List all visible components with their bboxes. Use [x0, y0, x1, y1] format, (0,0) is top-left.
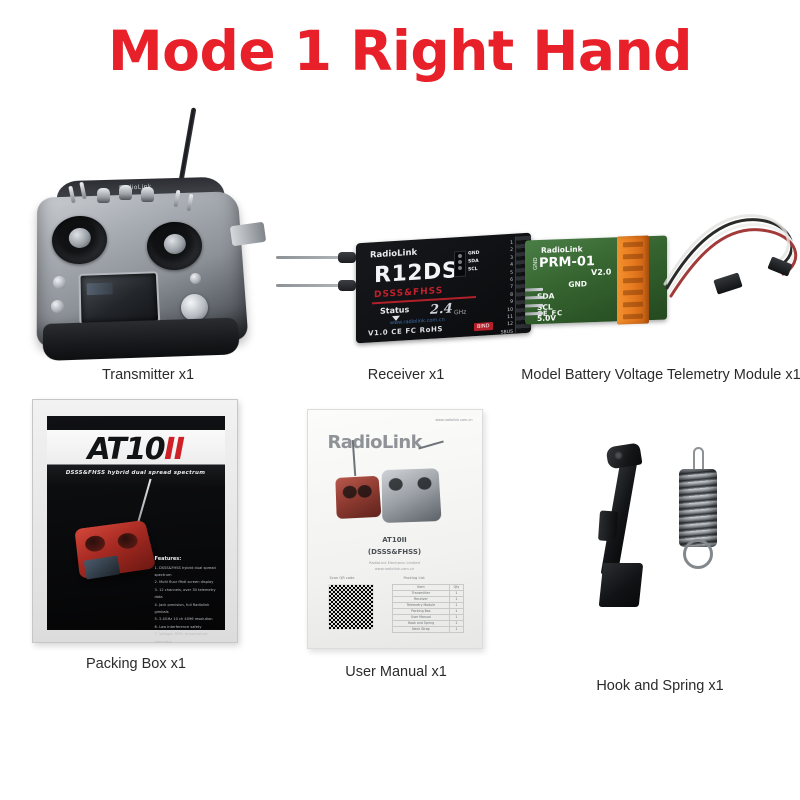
transmitter-button — [51, 300, 64, 313]
transmitter-base — [43, 317, 241, 360]
packing-list-body: ItemQtyTransmitter1Receiver1Telemetry Mo… — [392, 584, 463, 632]
caption-receiver: Receiver x1 — [368, 368, 445, 383]
transmitter-button — [53, 276, 66, 289]
transmitter-button — [190, 273, 201, 284]
receiver-cert-marks: CE FC RoHS — [391, 325, 443, 336]
telemetry-brand-label: RadioLink — [541, 244, 583, 254]
transmitter-knob — [141, 187, 154, 202]
packing-box-carton: AT10II DSSS&FHSS hybrid dual spread spec… — [32, 399, 238, 643]
receiver-antenna — [276, 256, 340, 259]
receiver-photo: RadioLink R12DS DSSS&FHSS Status 2.4 GHz… — [276, 232, 536, 362]
item-hook-and-spring: Hook and Spring x1 — [520, 397, 800, 694]
receiver-frequency-label: 2.4 — [430, 301, 453, 317]
table-row: Neck Strap1 — [392, 626, 463, 632]
hook-barb — [597, 510, 617, 541]
telemetry-male-pins — [525, 288, 543, 319]
contents-row-top: RadioLink Transmitter x1 — [0, 96, 800, 383]
user-manual-qr-label: Scan QR code — [330, 576, 355, 580]
hook-and-spring-photo — [553, 425, 768, 673]
receiver-board: RadioLink R12DS DSSS&FHSS Status 2.4 GHz… — [356, 233, 531, 344]
packing-box-features-list: 1. DSSS&FHSS hybrid dual spread spectrum… — [155, 565, 221, 646]
packing-box-logo-main: AT10 — [88, 432, 165, 467]
user-manual-url: www.radiolink.com.cn — [435, 418, 472, 423]
page-title: Mode 1 Right Hand — [108, 19, 692, 83]
caption-user-manual: User Manual x1 — [345, 665, 447, 680]
manual-art-transmitter-red — [335, 475, 381, 518]
receiver-antenna — [276, 284, 340, 287]
packing-box-logo-suffix: II — [164, 432, 183, 467]
user-manual-packing-list-table: ItemQtyTransmitter1Receiver1Telemetry Mo… — [392, 584, 464, 633]
spring-top-hook — [693, 447, 704, 471]
item-telemetry-module: RadioLink PRM-01 V2.0 GND SDA SCL 5.0V 6… — [522, 96, 800, 383]
receiver-certs-label: V1.0 CE FC RoHS — [368, 325, 443, 338]
item-receiver: RadioLink R12DS DSSS&FHSS Status 2.4 GHz… — [290, 96, 522, 383]
qr-code-icon — [328, 584, 374, 630]
packing-box-features-title: Features: — [155, 556, 182, 562]
caption-transmitter: Transmitter x1 — [102, 368, 194, 383]
contents-row-bottom: AT10II DSSS&FHSS hybrid dual spread spec… — [0, 397, 800, 694]
spring-ring — [683, 539, 713, 569]
table-cell: Neck Strap — [392, 626, 450, 632]
transmitter-side-handle — [230, 222, 266, 247]
hook-part — [597, 445, 653, 615]
manual-art-transmitter-gray — [381, 468, 441, 523]
receiver-interface-header — [454, 251, 466, 278]
caption-packing-box: Packing Box x1 — [86, 657, 186, 672]
receiver-brand-label: RadioLink — [370, 248, 417, 261]
receiver-interface-pin-labels: GND SDA SCL — [468, 250, 479, 275]
caption-telemetry-module: Model Battery Voltage Telemetry Module x… — [521, 368, 800, 383]
caption-hook-and-spring: Hook and Spring x1 — [596, 679, 723, 694]
transmitter-photo: RadioLink — [23, 96, 273, 368]
package-contents-grid: RadioLink Transmitter x1 — [0, 96, 800, 693]
spring-part — [679, 469, 717, 579]
receiver-status-label: Status — [380, 305, 409, 316]
page-header: Mode 1 Right Hand — [0, 0, 800, 96]
user-manual-table-label: Packing List — [404, 576, 425, 580]
user-manual-model: AT10II — [308, 536, 482, 544]
telemetry-side-label: GND — [533, 257, 539, 270]
user-manual-subtitle: RadioLink Electronic Limited www.radioli… — [308, 560, 482, 572]
table-cell: 1 — [450, 626, 463, 632]
transmitter-lcd-screen — [79, 271, 161, 325]
user-manual-cover: www.radiolink.com.cn RadioLink AT10II (D… — [307, 409, 483, 649]
telemetry-orange-terminal-block — [617, 235, 649, 324]
user-manual-brand-logo: RadioLink — [328, 432, 422, 453]
transmitter-scroll-dial — [181, 294, 208, 321]
item-packing-box: AT10II DSSS&FHSS hybrid dual spread spec… — [0, 397, 272, 694]
user-manual-protocol: (DSSS&FHSS) — [308, 548, 482, 556]
receiver-bind-button: BIND — [474, 322, 493, 331]
item-user-manual: www.radiolink.com.cn RadioLink AT10II (D… — [272, 397, 520, 694]
packing-box-photo: AT10II DSSS&FHSS hybrid dual spread spec… — [24, 397, 249, 645]
packing-box-logo-band: AT10II DSSS&FHSS hybrid dual spread spec… — [47, 430, 225, 486]
packing-box-tagline: DSSS&FHSS hybrid dual spread spectrum — [47, 470, 225, 476]
item-transmitter: RadioLink Transmitter x1 — [0, 96, 290, 383]
packing-box-front-face: AT10II DSSS&FHSS hybrid dual spread spec… — [47, 416, 225, 630]
transmitter-knob — [119, 185, 132, 200]
transmitter-knob — [97, 188, 110, 203]
spring-coil — [679, 469, 717, 547]
receiver-version-label: V1.0 — [368, 328, 388, 337]
receiver-frequency-unit: GHz — [454, 309, 466, 317]
hook-foot — [598, 563, 643, 607]
receiver-model-label: R12DS — [374, 258, 458, 288]
user-manual-photo: www.radiolink.com.cn RadioLink AT10II (D… — [299, 407, 494, 655]
telemetry-module-photo: RadioLink PRM-01 V2.0 GND SDA SCL 5.0V 6… — [511, 210, 800, 350]
telemetry-wire-harness — [659, 210, 800, 330]
hook-head — [605, 442, 642, 469]
telemetry-version-label: V2.0 — [591, 267, 611, 277]
packing-box-logo: AT10II — [88, 432, 184, 467]
